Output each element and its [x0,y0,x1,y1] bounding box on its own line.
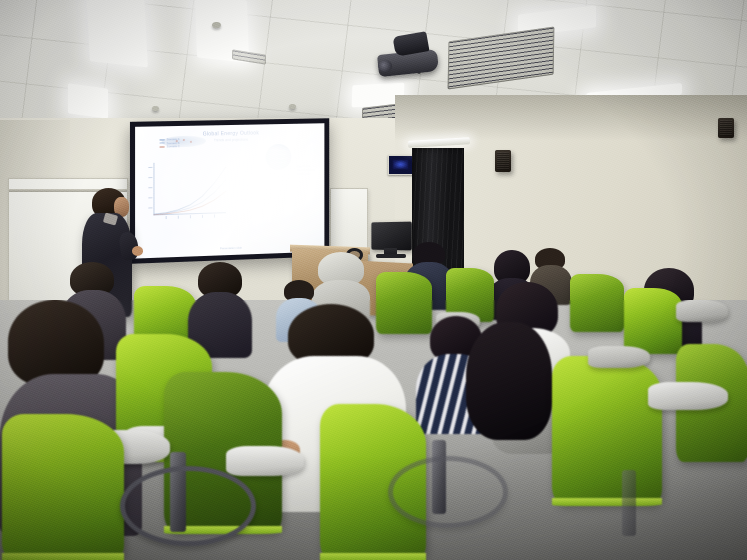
chair-edge-highlight [552,498,662,506]
slide-marker-dot [190,141,192,143]
chair-edge-highlight [320,553,426,560]
projection-screen-surface: Global Energy Outlook Trends and project… [135,123,324,258]
chair-foot-ring [388,456,508,528]
ceiling-light-panel [86,0,148,67]
projector-lens [378,60,392,72]
chart-x-tick [202,215,203,218]
chair-back [624,288,682,354]
chair-back [570,274,624,332]
right-wall-shadow [395,95,747,141]
presenter-hand [132,246,143,256]
wall-status-sign [388,155,415,175]
chart-series-paths [153,161,226,215]
smoke-detector-icon [289,104,296,109]
smoke-detector-icon [212,22,221,28]
classroom-photo: Global Energy Outlook Trends and project… [0,0,747,560]
wall-speaker [718,118,734,138]
lecture-chair [570,274,624,332]
lecture-chair [552,356,662,504]
lecture-chair [624,288,682,354]
ceiling-light-panel [68,83,108,119]
chart-x-tick [166,216,167,219]
chair-foot-ring [120,466,256,546]
chair-back [2,414,124,560]
chart-x-tick [178,216,179,219]
chart-y-tick [148,197,152,198]
chart-y-tick [148,177,152,178]
chair-tablet-arm [648,382,728,410]
presentation-slide: Global Energy Outlook Trends and project… [135,123,324,258]
ceiling-projector [372,30,446,80]
chair-tablet-arm [226,446,304,476]
projection-screen-frame: Global Energy Outlook Trends and project… [130,118,329,264]
chair-back [552,356,662,504]
slide-marker-dot [183,139,185,141]
chair-tablet-arm [588,346,650,368]
chart-y-tick [148,167,152,168]
chart-y-tick [148,207,152,208]
slide-globe-icon [266,144,292,170]
chart-x-tick [190,215,191,218]
lecture-chair [2,414,124,560]
chart-y-tick [148,187,152,188]
monitor-base [376,254,406,258]
chair-tablet-arm [676,300,728,322]
sign-glow [393,160,408,169]
legend-label: Scenario C [167,145,180,148]
wall-speaker [495,150,511,172]
chair-pedestal [622,470,636,536]
attendee-hair [466,322,552,440]
chart-legend: Scenario A Scenario B Scenario C [160,138,180,149]
attendee-dark-long-hair [466,322,552,452]
slide-line-chart [153,161,226,215]
slide-right-notes: Key drivers Demand growth Policy shift [297,165,318,177]
chair-edge-highlight [2,553,124,560]
chart-x-tick [214,215,215,218]
smoke-detector-icon [152,106,159,111]
